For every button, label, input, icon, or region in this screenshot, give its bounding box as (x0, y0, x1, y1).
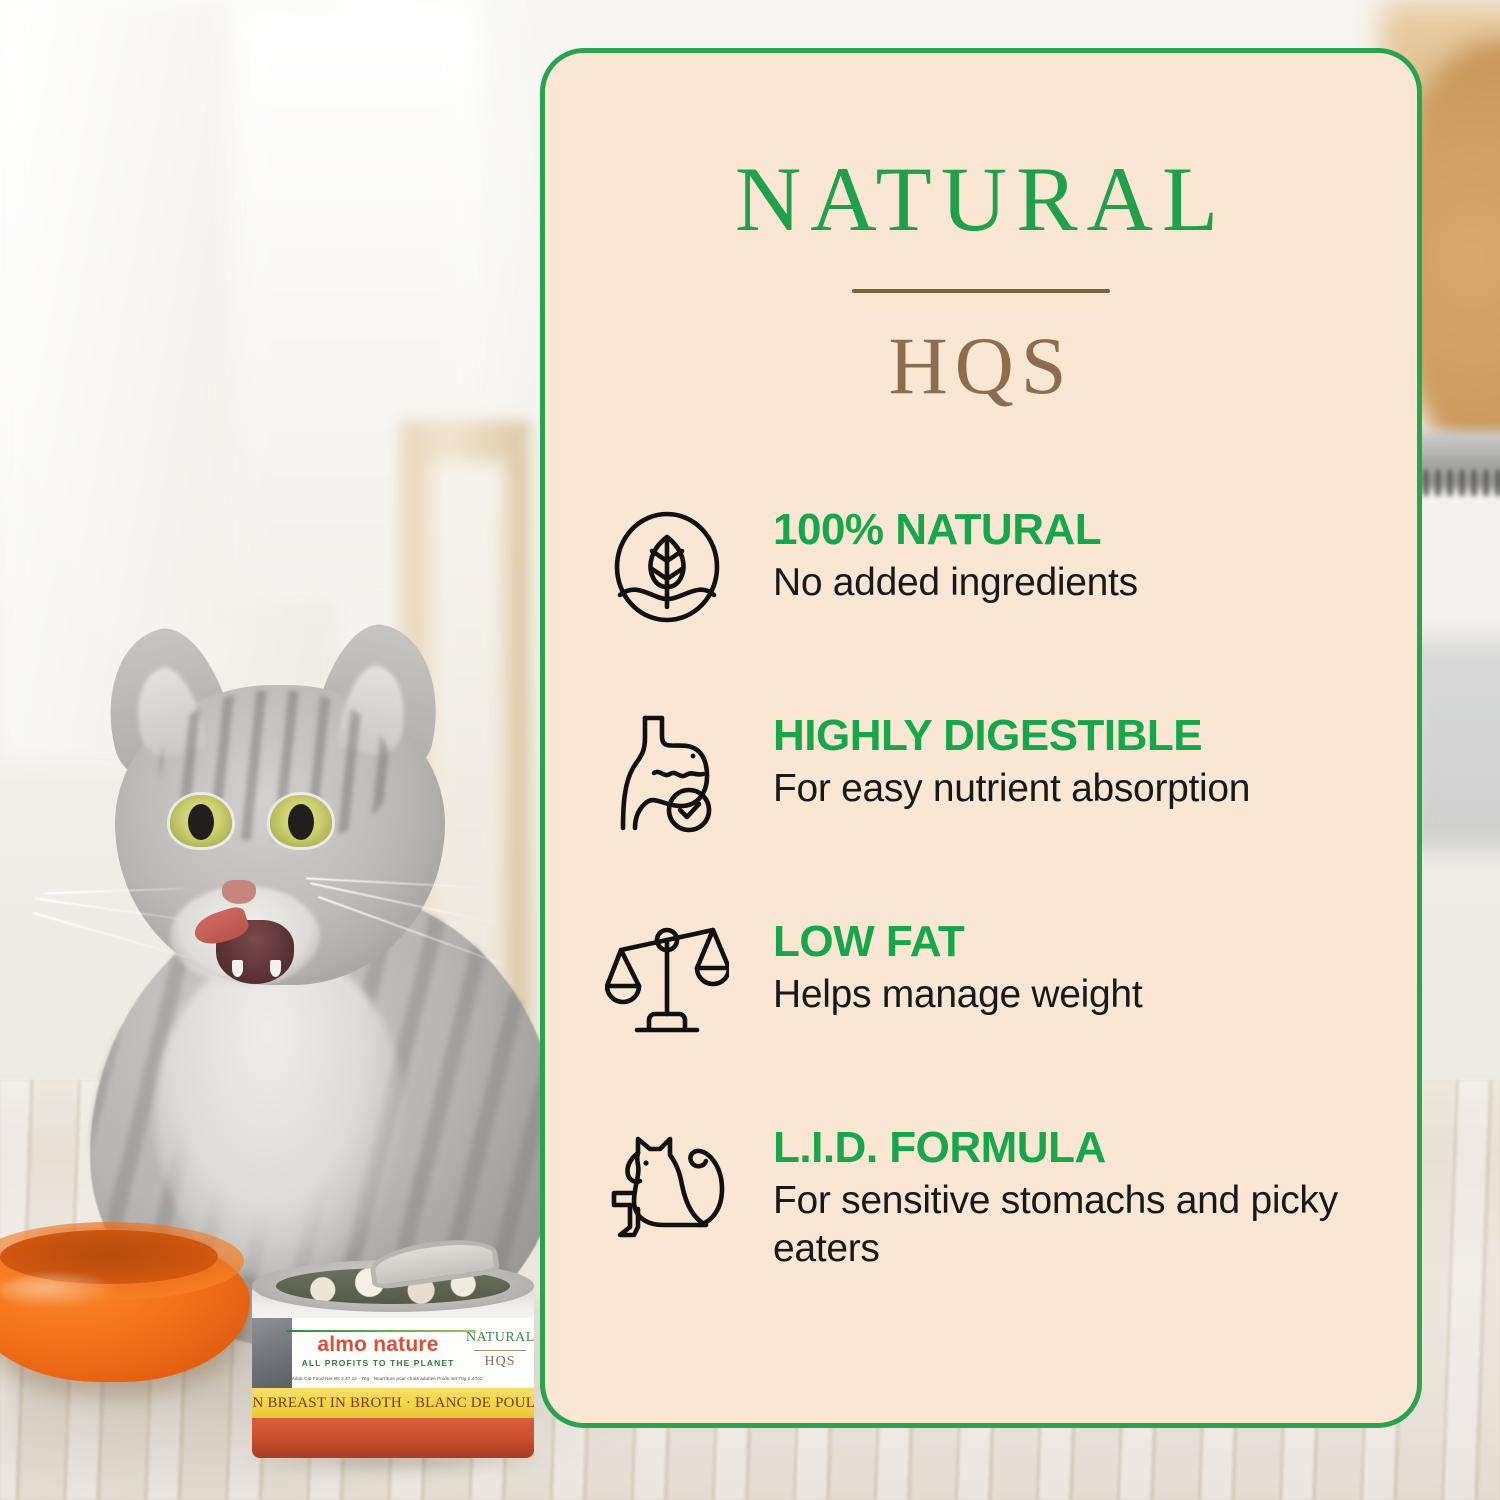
feature-text: LOW FAT Helps manage weight (773, 913, 1142, 1019)
feature-item-low-fat: LOW FAT Helps manage weight (601, 913, 1373, 1045)
can-bottom-band (252, 1416, 534, 1458)
cat-nose (222, 880, 256, 904)
can-flavour-text: CHICKEN BREAST IN BROTH · BLANC DE POULE… (252, 1395, 534, 1412)
bowl-highlight (0, 1274, 118, 1308)
can-range-name: NATURAL (466, 1330, 534, 1346)
benefits-panel: NATURAL HQS 100% NATURAL No ad (540, 48, 1422, 1428)
feature-title: HIGHLY DIGESTIBLE (773, 713, 1250, 759)
can-tagline: ALL PROFITS TO THE PLANET (288, 1358, 468, 1368)
brand-title: NATURAL (545, 153, 1417, 245)
feature-subtitle: No added ingredients (773, 559, 1138, 607)
feature-title: L.I.D. FORMULA (773, 1125, 1373, 1171)
feature-title: LOW FAT (773, 919, 1142, 965)
cat-pupil-right (288, 804, 314, 840)
can-label: almo nature ALL PROFITS TO THE PLANET NA… (252, 1318, 534, 1418)
can-range-sub: HQS (466, 1354, 534, 1370)
feature-item-lid-formula: L.I.D. FORMULA For sensitive stomachs an… (601, 1119, 1373, 1272)
feature-list: 100% NATURAL No added ingredients HIGHLY… (545, 501, 1417, 1272)
cat-tooth-left (232, 960, 243, 977)
feature-text: HIGHLY DIGESTIBLE For easy nutrient abso… (773, 707, 1250, 813)
brand-subtitle: HQS (545, 325, 1417, 407)
product-can: almo nature ALL PROFITS TO THE PLANET NA… (252, 1248, 534, 1458)
brand-divider (852, 289, 1110, 293)
can-brand-name: almo nature (288, 1334, 468, 1355)
can-fine-print: Adult Cat Food Net Wt 2.47 oz - 70g · No… (282, 1376, 492, 1381)
feature-title: 100% NATURAL (773, 507, 1138, 553)
feature-item-natural: 100% NATURAL No added ingredients (601, 501, 1373, 633)
feature-item-digestible: HIGHLY DIGESTIBLE For easy nutrient abso… (601, 707, 1373, 839)
can-label-accent-line (286, 1330, 476, 1332)
feature-subtitle: Helps manage weight (773, 971, 1142, 1019)
balance-scale-icon (601, 913, 733, 1045)
feature-text: 100% NATURAL No added ingredients (773, 501, 1138, 607)
feature-subtitle: For easy nutrient absorption (773, 765, 1250, 813)
cat-pupil-left (188, 804, 214, 840)
cat-photo (20, 590, 580, 1330)
can-flavour-band: CHICKEN BREAST IN BROTH · BLANC DE POULE… (252, 1388, 534, 1418)
leaf-in-circle-icon (601, 501, 733, 633)
sitting-cat-icon (601, 1119, 733, 1251)
orange-pet-bowl (0, 1222, 260, 1402)
stomach-check-icon (601, 707, 733, 839)
brand-header: NATURAL HQS (545, 53, 1417, 407)
can-range-divider (474, 1350, 526, 1351)
feature-text: L.I.D. FORMULA For sensitive stomachs an… (773, 1119, 1373, 1272)
feature-subtitle: For sensitive stomachs and picky eaters (773, 1177, 1373, 1272)
cat-tooth-right (270, 960, 281, 977)
